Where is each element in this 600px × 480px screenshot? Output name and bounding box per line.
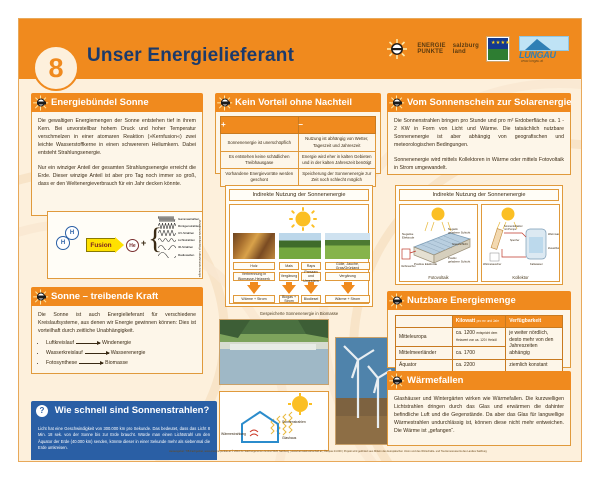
- panel-header: Vom Sonnenschein zur Solarenergie: [387, 93, 571, 112]
- figure-indirekte-nutzung-solar: Indirekte Nutzung der Sonnenenergie: [395, 185, 563, 285]
- lungau-logo: LUNGAU www.lungau.at: [517, 35, 573, 63]
- eu-flag-icon: ★★★★: [486, 36, 510, 62]
- column-header-minus: –: [298, 117, 376, 134]
- spectrum-label: Röntgenstrahlen: [178, 224, 200, 228]
- table-cell: Nutzung ist abhängig von Wetter, Tagesze…: [298, 134, 376, 151]
- table-cell: Speicherung der Sonnenenergie zur Zeit n…: [298, 169, 376, 186]
- figure-caption: Gespeicherte Sonnenenergie in Biomasse: [225, 311, 373, 316]
- column-header-verfuegbarkeit: Verfügbarkeit: [506, 316, 563, 328]
- table-cell: Äquator: [396, 359, 453, 371]
- wood-photo: [233, 233, 275, 259]
- cows-photo: [325, 233, 370, 259]
- sun-icon: [34, 96, 47, 109]
- table-cell: Energie wird eher in kalten Gebieten und…: [298, 151, 376, 168]
- sun-icon: [390, 96, 403, 109]
- hydrogen-atom: H: [65, 226, 79, 240]
- panel-title: Energiebündel Sonne: [51, 97, 149, 108]
- panel-title: Nutzbare Energiemenge: [407, 295, 516, 306]
- sun-graphic: [288, 207, 318, 231]
- panel-body: Die Sonne ist auch Energielieferant für …: [31, 306, 203, 374]
- arrow-down-icon: [341, 285, 355, 294]
- poster-header: Unser Energielieferant ENERGIEPUN: [19, 19, 582, 79]
- header-superscript: pro m² und Jahr: [477, 319, 500, 323]
- table-cell: Mittelmeerländer: [396, 347, 453, 359]
- svg-text:Speicher: Speicher: [510, 239, 520, 242]
- flow-source: Mais: [279, 262, 299, 270]
- cycle-to: Biomasse: [105, 359, 128, 367]
- svg-text:Warmwasser: Warmwasser: [548, 232, 559, 236]
- flow-product: Biogas + Strom: [279, 295, 299, 303]
- svg-text:geladene Schicht: geladene Schicht: [448, 260, 470, 264]
- svg-text:Positive Elektrode: Positive Elektrode: [414, 262, 438, 266]
- panel-body: Glashäuser und Wintergärten wirken wie W…: [387, 390, 571, 446]
- flow-product: Wärme + Strom: [233, 295, 275, 303]
- sheet-number-badge: 8: [33, 45, 79, 91]
- paragraph: Die Sonne ist auch Energielieferant für …: [38, 311, 196, 335]
- poster-root: Unser Energielieferant ENERGIEPUN: [0, 0, 600, 480]
- flow-process: Verbrennung in Biomasse-Heizwerk: [233, 272, 275, 281]
- spectrum-list: Gammastrahlen Röntgenstrahlen UV-Strahle…: [158, 216, 202, 258]
- panel-body: Die gewaltigen Energiemengen der Sonne e…: [31, 112, 203, 216]
- svg-text:Grenzschicht: Grenzschicht: [452, 242, 468, 246]
- spectrum-label: UV-Strahlen: [178, 231, 194, 235]
- svg-text:Wärmestrahlung: Wärmestrahlung: [221, 432, 246, 436]
- panel-title: Sonne – treibende Kraft: [51, 291, 158, 302]
- table-cell: ziemlich konstant: [506, 359, 563, 371]
- figure-canvas: Holz Mais Raps Gülle, Jauche, Gras/Grünl…: [229, 204, 369, 304]
- panel-header: Energiebündel Sonne: [31, 93, 203, 112]
- paragraph: Die gewaltigen Energiemengen der Sonne e…: [38, 117, 196, 157]
- spectrum-label: Lichtstrahlen: [178, 238, 195, 242]
- svg-text:geladene Schicht: geladene Schicht: [448, 231, 470, 235]
- figure-row: Negative Elektrode Negativ geladene Schi…: [399, 204, 559, 282]
- hydro-dam-photo: [219, 319, 329, 385]
- footer-credit: Herausgeber: TIB Fachgebiet, www.energie…: [169, 450, 569, 453]
- panel-title: Wärmefallen: [407, 375, 464, 386]
- panel-waermefallen: Wärmefallen Glashäuser und Wintergärten …: [387, 371, 571, 446]
- panel-header: Kein Vorteil ohne Nachteil: [215, 93, 381, 112]
- arrow-down-icon: [247, 285, 261, 294]
- svg-text:Glashaus: Glashaus: [282, 436, 297, 440]
- column-header-kilowatt: Kilowatt pro m² und Jahr: [452, 316, 505, 328]
- arrow-down-icon: [304, 285, 318, 294]
- flow-product: Wärme + Strom: [325, 295, 370, 303]
- list-item: Wasserkreislauf Wasserenergie: [46, 349, 196, 357]
- svg-text:mit Pumpe: mit Pumpe: [504, 227, 517, 231]
- table-row: Mitteleuropa ca. 1200 entspricht dem Hei…: [396, 327, 563, 347]
- question-icon: ?: [36, 405, 48, 417]
- helium-atom: He: [126, 239, 139, 252]
- figure-title: Indirekte Nutzung der Sonnenenergie: [399, 189, 559, 201]
- figure-title: Indirekte Nutzung der Sonnenenergie: [229, 189, 369, 201]
- cycle-from: Wasserkreislauf: [46, 349, 83, 357]
- arrow-down-icon: [282, 285, 296, 294]
- kernfusion-diagram: H H Fusion He + { Gammastrahlen Röntgens…: [47, 211, 203, 279]
- flow-process: Vergärung: [279, 272, 299, 281]
- flow-process: Vergärung: [325, 272, 370, 281]
- panel-kein-vorteil-ohne-nachteil: Kein Vorteil ohne Nachteil + – Sonnenene…: [215, 93, 381, 174]
- panel-title: Kein Vorteil ohne Nachteil: [235, 97, 352, 108]
- arrow-icon: [76, 343, 100, 344]
- header-text: Kilowatt: [456, 318, 475, 324]
- plus-sign: +: [141, 238, 146, 248]
- cycle-to: Windenergie: [102, 339, 131, 347]
- partner-logo-2: salzburgland: [453, 43, 479, 56]
- panel-body: Die Sonnenstrahlen bringen pro Stunde un…: [387, 112, 571, 175]
- lungau-url: www.lungau.at: [521, 59, 543, 63]
- paragraph: Sonnenenergie wird mittels Kollektoren i…: [394, 156, 564, 172]
- table-cell: ca. 1200 entspricht dem Heizwert von ca.…: [452, 327, 505, 347]
- flow-source: Holz: [233, 262, 275, 270]
- table-row: Es entstehen keine schädlichen Treibhaus…: [221, 151, 376, 168]
- figure-indirekte-nutzung-biomasse: Indirekte Nutzung der Sonnenenergie: [225, 185, 373, 307]
- sun-icon: [218, 96, 231, 109]
- cell-value: ca. 1200: [456, 330, 475, 336]
- panel-body: Kilowatt pro m² und Jahr Verfügbarkeit M…: [387, 310, 571, 368]
- panel-header: Wärmefallen: [387, 371, 571, 390]
- svg-text:Kaltwasser: Kaltwasser: [530, 262, 543, 266]
- svg-text:Zusatzheizung: Zusatzheizung: [548, 246, 559, 250]
- field-photo: [279, 233, 321, 259]
- cycle-from: Luftkreislauf: [46, 339, 74, 347]
- flow-source: Raps: [301, 262, 321, 270]
- wintergarten-diagram: Sonnenstrahlen Glashaus Wärmestrahlung: [219, 391, 329, 451]
- pros-cons-table: + – Sonnenenergie ist unerschöpflich Nut…: [220, 116, 376, 187]
- cycle-from: Fotosynthese: [46, 359, 77, 367]
- flow-process: Pressen und Umestern: [301, 272, 321, 281]
- sun-icon: [34, 290, 47, 303]
- panel-body: Licht hat eine Geschwindigkeit von 300.0…: [31, 420, 217, 460]
- table-cell: ca. 2200: [452, 359, 505, 371]
- page-title: Unser Energielieferant: [87, 45, 294, 67]
- cycle-list: Luftkreislauf Windenergie Wasserkreislau…: [46, 339, 196, 367]
- table-cell: Mitteleuropa: [396, 327, 453, 347]
- energy-amount-table: Kilowatt pro m² und Jahr Verfügbarkeit M…: [395, 315, 563, 372]
- column-header-region: [396, 316, 453, 328]
- panel-energiebuendel-sonne: Energiebündel Sonne Die gewaltigen Energ…: [31, 93, 203, 216]
- spectrum-label: IR-Strahlen: [178, 245, 193, 249]
- panel-vom-sonnenschein: Vom Sonnenschein zur Solarenergie Die So…: [387, 93, 571, 175]
- svg-text:Sonnenstrahlen: Sonnenstrahlen: [282, 420, 306, 424]
- partner-logo-1: ENERGIEPUNKTE: [417, 43, 445, 56]
- sun-icon: [390, 294, 403, 307]
- sun-icon: [390, 374, 403, 387]
- flow-source: Gülle, Jauche, Gras/Grünland: [325, 262, 370, 270]
- arrow-icon: [85, 353, 109, 354]
- kollektor-diagram: Sonnenkollektor mit Pumpe Warmwasser Zus…: [481, 204, 560, 282]
- cycle-to: Wasserenergie: [111, 349, 146, 357]
- spectrum-axis-label: Zunehmende Wellenlänge / abnehmende Ener…: [198, 220, 201, 277]
- table-row: Sonnenenergie ist unerschöpflich Nutzung…: [221, 134, 376, 151]
- spectrum-label: Radiowellen: [178, 253, 194, 257]
- table-cell: ca. 1700: [452, 347, 505, 359]
- figure-caption: Fotovoltaik: [400, 275, 477, 280]
- fusion-arrow: Fusion: [86, 238, 116, 252]
- table-row: Äquator ca. 2200 ziemlich konstant: [396, 359, 563, 371]
- svg-text:Verbraucher: Verbraucher: [401, 264, 416, 268]
- paragraph: Nur ein winziger Anteil der gesamten Str…: [38, 164, 196, 188]
- paragraph: Licht hat eine Geschwindigkeit von 300.0…: [38, 426, 210, 451]
- flow-product: Biodiesel: [301, 295, 321, 303]
- figure-caption: Kollektor: [482, 275, 559, 280]
- arrow-icon: [79, 363, 103, 364]
- sun-logo-icon: [384, 38, 410, 60]
- table-cell: je weiter nördlich, desto mehr von den J…: [506, 327, 563, 359]
- table-cell: Sonnenenergie ist unerschöpflich: [221, 134, 299, 151]
- logo-strip: ENERGIEPUNKTE salzburgland ★★★★ LUNGAU w…: [384, 33, 573, 65]
- column-header-plus: +: [221, 117, 299, 134]
- list-item: Fotosynthese Biomasse: [46, 359, 196, 367]
- table-cell: Vorhandene Energievorräte werden geschon…: [221, 169, 299, 186]
- panel-sonne-treibende-kraft: Sonne – treibende Kraft Die Sonne ist au…: [31, 287, 203, 374]
- panel-nutzbare-energiemenge: Nutzbare Energiemenge Kilowatt pro m² un…: [387, 291, 571, 368]
- svg-text:Wärmetauscher: Wärmetauscher: [483, 262, 501, 266]
- list-item: Luftkreislauf Windenergie: [46, 339, 196, 347]
- svg-text:Elektrode: Elektrode: [402, 236, 415, 240]
- table-row: Vorhandene Energievorräte werden geschon…: [221, 169, 376, 186]
- panel-header: Sonne – treibende Kraft: [31, 287, 203, 306]
- panel-body: + – Sonnenenergie ist unerschöpflich Nut…: [215, 112, 381, 174]
- photovoltaik-diagram: Negative Elektrode Negativ geladene Schi…: [399, 204, 478, 282]
- paragraph: Die Sonnenstrahlen bringen pro Stunde un…: [394, 117, 564, 149]
- table-cell: Es entstehen keine schädlichen Treibhaus…: [221, 151, 299, 168]
- panel-header: ? Wie schnell sind Sonnenstrahlen?: [31, 401, 217, 420]
- paragraph: Glashäuser und Wintergärten wirken wie W…: [394, 395, 564, 435]
- panel-title: Wie schnell sind Sonnenstrahlen?: [55, 405, 210, 416]
- spectrum-label: Gammastrahlen: [178, 217, 199, 221]
- panel-header: Nutzbare Energiemenge: [387, 291, 571, 310]
- poster-sheet: Unser Energielieferant ENERGIEPUN: [18, 18, 582, 462]
- panel-title: Vom Sonnenschein zur Solarenergie: [407, 97, 572, 108]
